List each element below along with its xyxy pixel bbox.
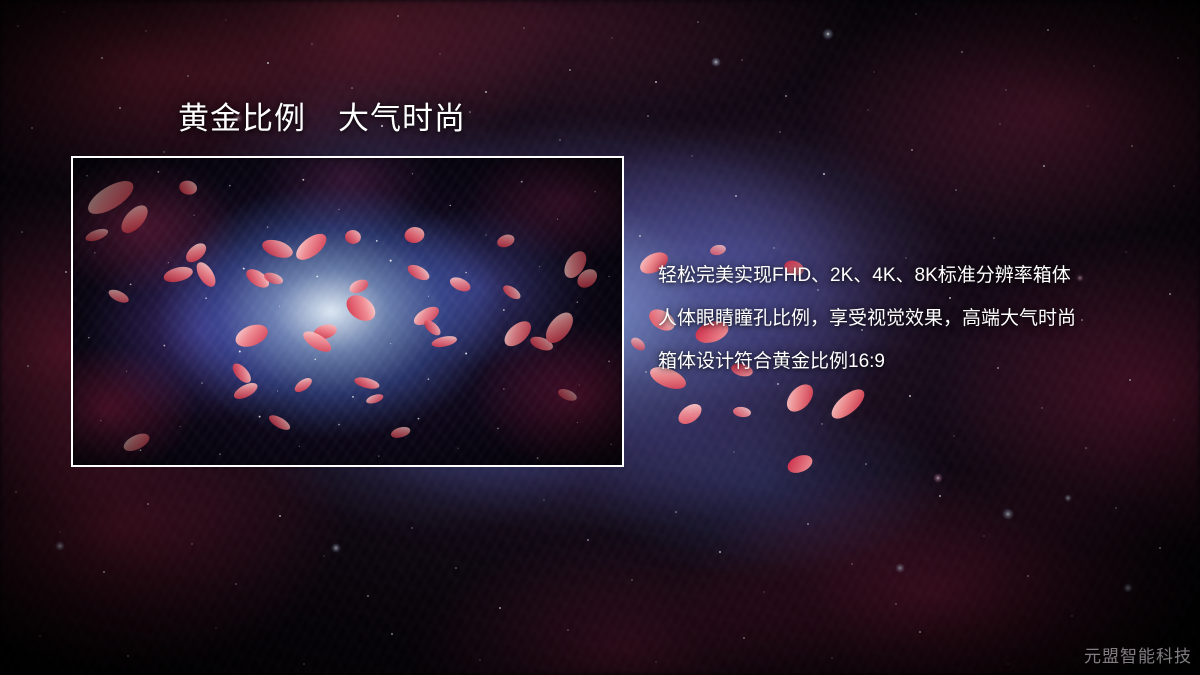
slide-title: 黄金比例 大气时尚: [178, 100, 466, 139]
body-text-line-2: 人体眼睛瞳孔比例，享受视觉效果，高端大气时尚: [658, 297, 1188, 340]
slide-canvas: 黄金比例 大气时尚: [0, 0, 1200, 675]
image-panel-content: [73, 158, 622, 465]
body-text-line-1: 轻松完美实现FHD、2K、4K、8K标准分辨率箱体: [658, 254, 1188, 297]
panel-vignette: [73, 158, 622, 465]
body-text-block: 轻松完美实现FHD、2K、4K、8K标准分辨率箱体 人体眼睛瞳孔比例，享受视觉效…: [658, 254, 1188, 383]
image-panel-frame[interactable]: [71, 156, 624, 467]
body-text-line-3: 箱体设计符合黄金比例16:9: [658, 340, 1188, 383]
watermark: 元盟智能科技: [1084, 642, 1192, 667]
